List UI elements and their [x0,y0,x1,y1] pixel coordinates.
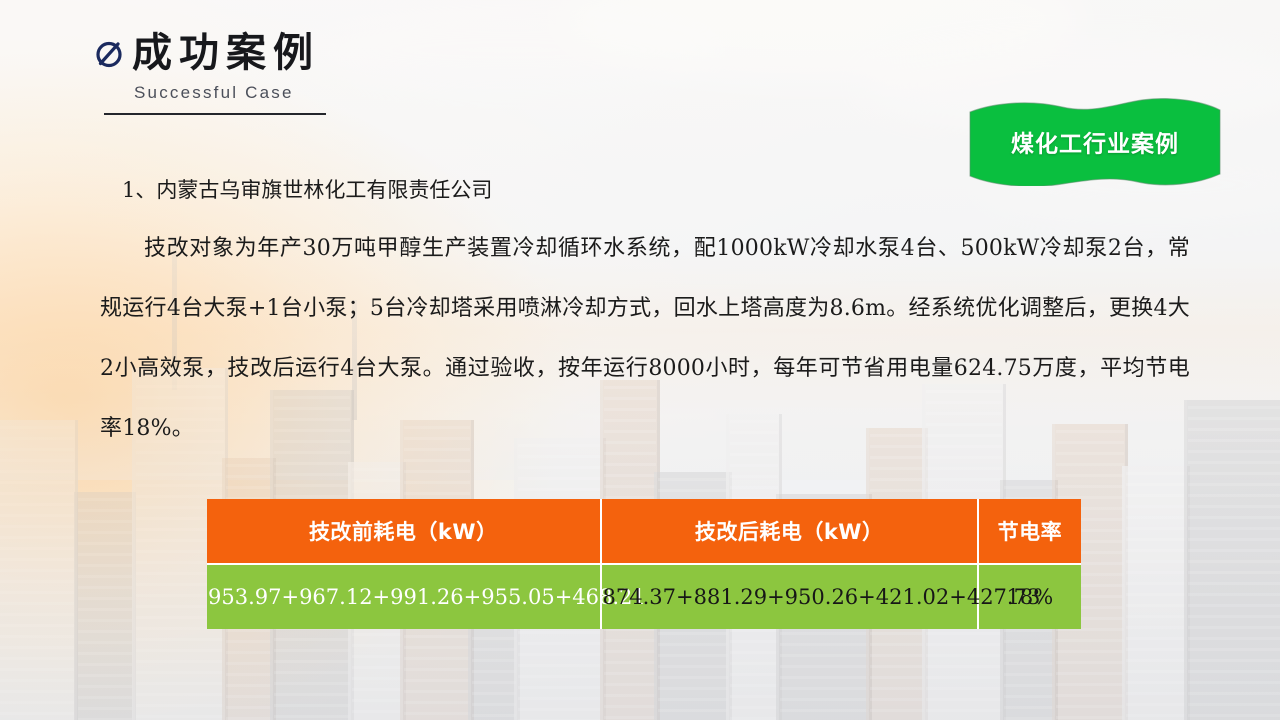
comparison-table: 技改前耗电（kW） 技改后耗电（kW） 节电率 953.97+967.12+99… [207,499,1081,629]
category-ribbon: 煤化工行业案例 [966,98,1224,186]
table-header-cell-rate: 节电率 [979,499,1081,565]
case-heading: 1、内蒙古乌审旗世林化工有限责任公司 [122,176,1190,205]
comparison-table-wrapper: 技改前耗电（kW） 技改后耗电（kW） 节电率 953.97+967.12+99… [207,499,1081,629]
table-header-row: 技改前耗电（kW） 技改后耗电（kW） 节电率 [207,499,1081,565]
page-title: 成功案例 [132,32,320,74]
slide-header: 成功案例 Successful Case [92,32,326,115]
slide-canvas: 成功案例 Successful Case 煤化工行业案例 1、内蒙古乌审旗世林化… [0,0,1280,720]
table-cell-after-value: 874.37+881.29+950.26+421.02+427.73 [602,565,979,629]
slashed-circle-icon [92,36,126,70]
table-header-cell-after: 技改后耗电（kW） [602,499,979,565]
title-divider [104,113,326,115]
table-cell-before-value: 953.97+967.12+991.26+955.05+468.21 [207,565,602,629]
table-header-cell-before: 技改前耗电（kW） [207,499,602,565]
case-paragraph: 技改对象为年产30万吨甲醇生产装置冷却循环水系统，配1000kW冷却水泵4台、5… [100,219,1190,459]
table-row: 953.97+967.12+991.26+955.05+468.21 874.3… [207,565,1081,629]
case-body: 1、内蒙古乌审旗世林化工有限责任公司 技改对象为年产30万吨甲醇生产装置冷却循环… [100,176,1190,459]
page-subtitle: Successful Case [134,83,326,103]
